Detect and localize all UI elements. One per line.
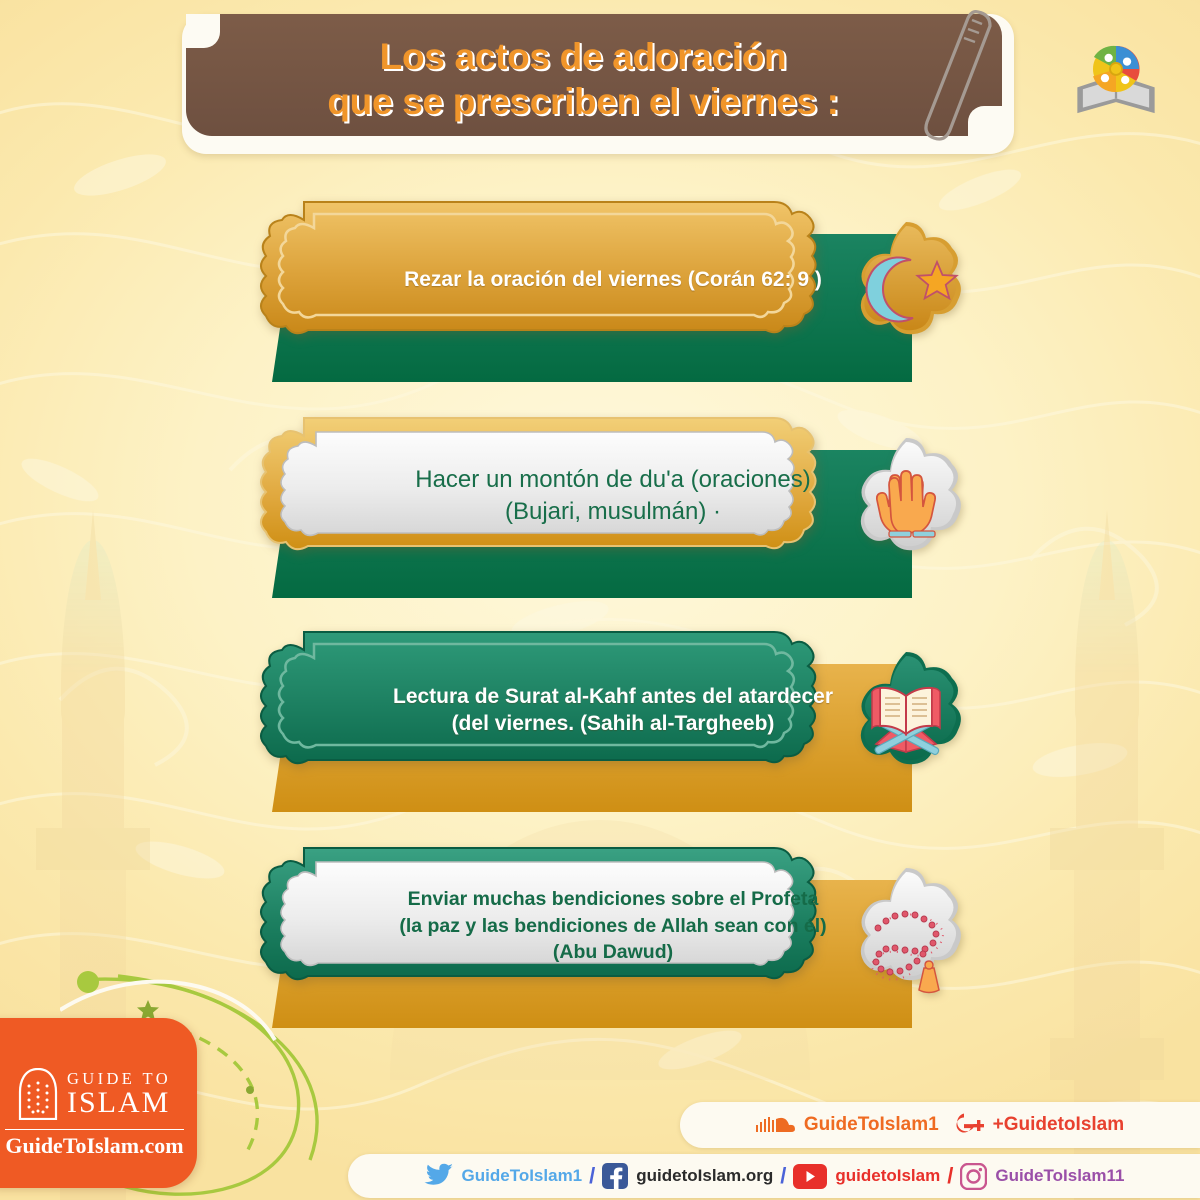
- worship-act-card-1[interactable]: Rezar la oración del viernes (Corán 62: …: [258, 196, 968, 392]
- title-banner: Los actos de adoración que se prescriben…: [182, 14, 1014, 154]
- logo-line-2: ISLAM: [67, 1088, 171, 1118]
- soundcloud-label: GuideToIslam1: [804, 1114, 939, 1136]
- title-line-1: Los actos de adoración: [380, 36, 787, 77]
- card-text-line: Lectura de Surat al-Kahf antes del atard…: [298, 683, 928, 710]
- globe-book-icon: [1070, 34, 1162, 126]
- footer-social-bar-bottom: GuideToIslam1 / guidetoIslam.org / guide…: [348, 1154, 1200, 1198]
- instagram-label: GuideToIslam11: [995, 1166, 1124, 1186]
- google-plus-icon: [953, 1113, 985, 1137]
- card-text-line: Rezar la oración del viernes (Corán 62: …: [298, 268, 928, 292]
- soundcloud-link[interactable]: GuideToIslam1: [756, 1114, 939, 1136]
- twitter-label: GuideToIslam1: [462, 1166, 583, 1186]
- youtube-label: guidetoIslam: [835, 1166, 940, 1186]
- logo-website-url: GuideToIslam.com: [5, 1129, 183, 1159]
- worship-act-card-3[interactable]: Lectura de Surat al-Kahf antes del atard…: [258, 626, 968, 822]
- card-text-line: (del viernes. (Sahih al-Targheeb): [298, 710, 928, 737]
- card-text-line: (Abu Dawud): [298, 939, 928, 966]
- twitter-icon: [424, 1163, 454, 1189]
- separator: /: [589, 1163, 595, 1189]
- card-text-line: (la paz y las bendiciones de Allah sean …: [298, 913, 928, 940]
- guide-to-islam-logo-badge[interactable]: GUIDE TO ISLAM GuideToIslam.com: [0, 1018, 197, 1188]
- medallion-frame-2: [836, 434, 976, 586]
- twitter-link[interactable]: GuideToIslam1: [424, 1163, 583, 1189]
- googleplus-label: +GuidetoIslam: [993, 1114, 1124, 1136]
- instagram-icon: [960, 1163, 987, 1190]
- card-text-line: Enviar muchas bendiciones sobre el Profe…: [298, 886, 928, 913]
- youtube-icon: [793, 1164, 827, 1189]
- title-line-2: que se prescriben el viernes :: [327, 81, 838, 122]
- facebook-link[interactable]: guidetoIslam.org: [602, 1163, 773, 1189]
- facebook-icon: [602, 1163, 628, 1189]
- youtube-link[interactable]: guidetoIslam: [793, 1164, 940, 1189]
- separator: /: [780, 1163, 786, 1189]
- worship-act-card-2[interactable]: Hacer un montón de du'a (oraciones) (Buj…: [258, 412, 968, 608]
- mihrab-arch-icon: [18, 1068, 58, 1120]
- instagram-link[interactable]: GuideToIslam11: [960, 1163, 1124, 1190]
- medallion-frame-1: [836, 218, 976, 370]
- medallion-frame-3: [836, 648, 976, 800]
- facebook-label: guidetoIslam.org: [636, 1166, 773, 1186]
- pen-nib-icon: [912, 6, 1004, 156]
- card-text-line: Hacer un montón de du'a (oraciones): [298, 464, 928, 496]
- soundcloud-icon: [756, 1114, 796, 1136]
- card-text-line: (Bujari, musulmán) ·: [298, 496, 928, 528]
- googleplus-link[interactable]: +GuidetoIslam: [953, 1113, 1124, 1137]
- separator: /: [947, 1163, 953, 1189]
- open-quran-icon: [872, 688, 940, 756]
- footer-social-bar-top: GuideToIslam1 +GuidetoIslam: [680, 1102, 1200, 1148]
- page-title: Los actos de adoración que se prescriben…: [182, 34, 984, 124]
- medallion-frame-4: [836, 864, 976, 1016]
